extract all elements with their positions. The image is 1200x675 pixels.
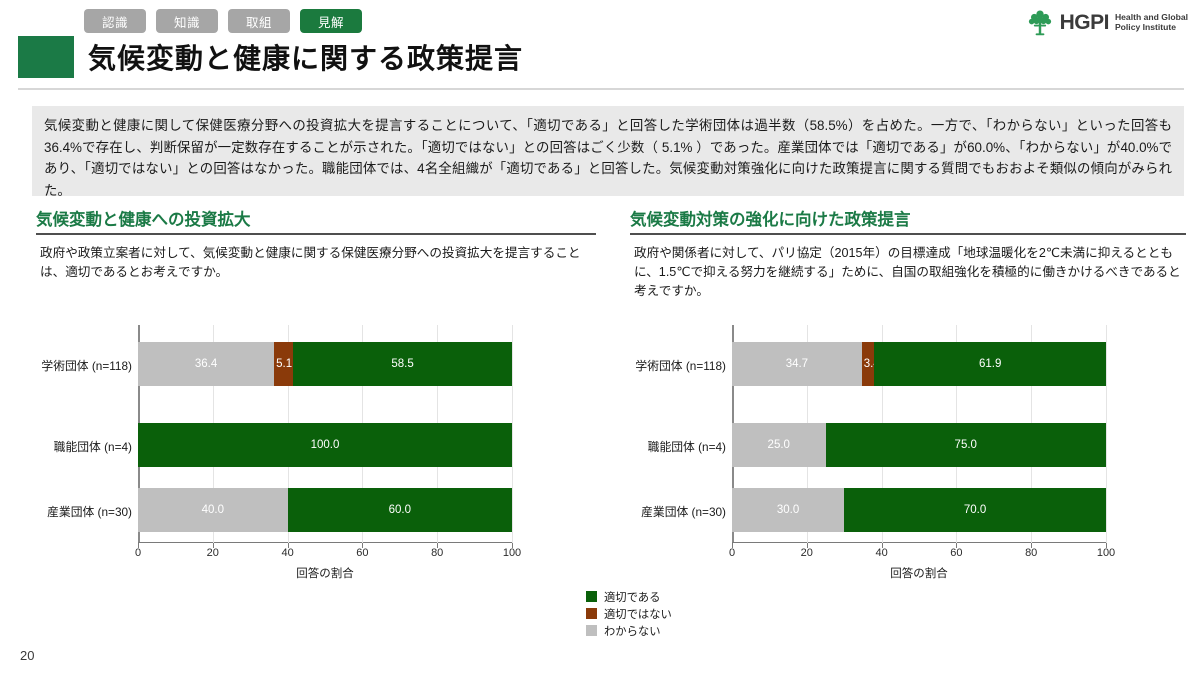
x-axis-tick-label: 40 bbox=[875, 547, 887, 559]
bar-row[interactable]: 30.070.0 bbox=[732, 488, 1106, 532]
x-axis-tick-label: 0 bbox=[135, 547, 141, 559]
legend-label: 適切である bbox=[604, 589, 660, 605]
bar-segment[interactable]: 5.1 bbox=[274, 342, 293, 386]
legend-swatch-not-appropriate bbox=[586, 608, 597, 619]
bar-segment[interactable]: 40.0 bbox=[138, 488, 288, 532]
legend-swatch-appropriate bbox=[586, 591, 597, 602]
chart-policy-recommendation: 学術団体 (n=118)34.73.461.9職能団体 (n=4)25.075.… bbox=[630, 325, 1186, 580]
title-divider bbox=[18, 88, 1184, 90]
tab-torikumi[interactable]: 取組 bbox=[228, 9, 290, 33]
bar-segment[interactable]: 25.0 bbox=[732, 423, 826, 467]
x-axis-tick-label: 20 bbox=[801, 547, 813, 559]
legend-swatch-unknown bbox=[586, 625, 597, 636]
page-title: 気候変動と健康に関する政策提言 bbox=[18, 36, 523, 78]
tab-label: 認識 bbox=[102, 12, 128, 31]
legend-label: 適切ではない bbox=[604, 606, 672, 622]
panel-left-divider bbox=[36, 233, 596, 235]
x-axis-title: 回答の割合 bbox=[732, 565, 1106, 581]
x-axis-tick-label: 80 bbox=[431, 547, 443, 559]
legend-label: わからない bbox=[604, 623, 661, 639]
x-axis-tick-label: 40 bbox=[281, 547, 293, 559]
x-axis-tick-label: 60 bbox=[356, 547, 368, 559]
category-label: 学術団体 (n=118) bbox=[0, 357, 132, 374]
plot-area: 学術団体 (n=118)34.73.461.9職能団体 (n=4)25.075.… bbox=[630, 325, 1186, 543]
gridline bbox=[1106, 325, 1107, 543]
x-axis-tick-label: 100 bbox=[503, 547, 521, 559]
gridline bbox=[512, 325, 513, 543]
bar-segment[interactable]: 61.9 bbox=[874, 342, 1106, 386]
summary-text: 気候変動と健康に関して保健医療分野への投資拡大を提言することについて、「適切であ… bbox=[44, 115, 1172, 202]
bar-segment[interactable]: 34.7 bbox=[732, 342, 862, 386]
bar-row[interactable]: 40.060.0 bbox=[138, 488, 512, 532]
category-label: 産業団体 (n=30) bbox=[576, 503, 726, 520]
bar-segment[interactable]: 60.0 bbox=[288, 488, 512, 532]
logo-abbr: HGPI bbox=[1060, 12, 1109, 33]
bar-segment[interactable]: 36.4 bbox=[138, 342, 274, 386]
x-axis-title: 回答の割合 bbox=[138, 565, 512, 581]
tab-label: 知識 bbox=[174, 12, 200, 31]
tab-bar: 認識 知識 取組 見解 bbox=[84, 9, 362, 33]
legend-item: わからない bbox=[586, 622, 672, 639]
x-axis-line bbox=[732, 542, 1106, 544]
logo-fullname-line2: Policy Institute bbox=[1115, 22, 1176, 32]
page-number: 20 bbox=[20, 648, 34, 663]
tab-kenkai[interactable]: 見解 bbox=[300, 9, 362, 33]
bar-segment[interactable]: 100.0 bbox=[138, 423, 512, 467]
tab-label: 取組 bbox=[246, 12, 272, 31]
bar-segment[interactable]: 75.0 bbox=[826, 423, 1107, 467]
x-axis-tick-label: 0 bbox=[729, 547, 735, 559]
brand-logo: HGPI Health and Global Policy Institute bbox=[1026, 8, 1188, 36]
tab-chishiki[interactable]: 知識 bbox=[156, 9, 218, 33]
category-label: 学術団体 (n=118) bbox=[576, 357, 726, 374]
tab-ninshiki[interactable]: 認識 bbox=[84, 9, 146, 33]
legend-item: 適切ではない bbox=[586, 605, 672, 622]
chart-investment-expansion: 学術団体 (n=118)36.45.158.5職能団体 (n=4)100.0産業… bbox=[36, 325, 596, 580]
bar-row[interactable]: 34.73.461.9 bbox=[732, 342, 1106, 386]
x-axis-tick-label: 60 bbox=[950, 547, 962, 559]
title-accent-bar bbox=[18, 36, 74, 78]
plot-area: 学術団体 (n=118)36.45.158.5職能団体 (n=4)100.0産業… bbox=[36, 325, 596, 543]
panel-left: 気候変動と健康への投資拡大 政府や政策立案者に対して、気候変動と健康に関する保健… bbox=[36, 206, 596, 282]
panel-left-question: 政府や政策立案者に対して、気候変動と健康に関する保健医療分野への投資拡大を提言す… bbox=[36, 244, 596, 282]
chart-legend: 適切である 適切ではない わからない bbox=[586, 588, 672, 639]
x-axis-tick-label: 20 bbox=[207, 547, 219, 559]
bar-row[interactable]: 100.0 bbox=[138, 423, 512, 467]
bar-row[interactable]: 36.45.158.5 bbox=[138, 342, 512, 386]
category-label: 職能団体 (n=4) bbox=[0, 438, 132, 455]
bar-segment[interactable]: 30.0 bbox=[732, 488, 844, 532]
bar-row[interactable]: 25.075.0 bbox=[732, 423, 1106, 467]
x-axis-line bbox=[138, 542, 512, 544]
tab-label: 見解 bbox=[318, 12, 344, 31]
panel-right: 気候変動対策の強化に向けた政策提言 政府や関係者に対して、パリ協定（2015年）… bbox=[630, 206, 1186, 301]
bar-segment[interactable]: 70.0 bbox=[844, 488, 1106, 532]
logo-fullname: Health and Global Policy Institute bbox=[1115, 12, 1188, 33]
category-label: 職能団体 (n=4) bbox=[576, 438, 726, 455]
tree-icon bbox=[1026, 8, 1054, 36]
category-label: 産業団体 (n=30) bbox=[0, 503, 132, 520]
logo-fullname-line1: Health and Global bbox=[1115, 12, 1188, 22]
panel-right-heading: 気候変動対策の強化に向けた政策提言 bbox=[630, 206, 1186, 233]
panel-left-heading: 気候変動と健康への投資拡大 bbox=[36, 206, 596, 233]
slide: 認識 知識 取組 見解 bbox=[0, 0, 1200, 675]
bar-segment[interactable]: 58.5 bbox=[293, 342, 512, 386]
panel-right-question: 政府や関係者に対して、パリ協定（2015年）の目標達成「地球温暖化を2℃未満に抑… bbox=[630, 244, 1186, 301]
x-axis-tick-label: 100 bbox=[1097, 547, 1115, 559]
x-axis-tick-label: 80 bbox=[1025, 547, 1037, 559]
summary-box: 気候変動と健康に関して保健医療分野への投資拡大を提言することについて、「適切であ… bbox=[32, 106, 1184, 196]
bar-segment[interactable]: 3.4 bbox=[862, 342, 875, 386]
panel-right-divider bbox=[630, 233, 1186, 235]
legend-item: 適切である bbox=[586, 588, 672, 605]
title-text: 気候変動と健康に関する政策提言 bbox=[88, 37, 523, 77]
